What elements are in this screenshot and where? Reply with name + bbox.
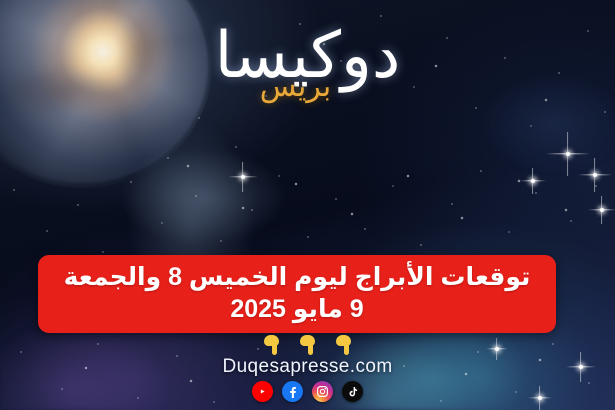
youtube-icon[interactable] [252,381,273,402]
point-down-icon [336,335,351,355]
point-down-icon [300,335,315,355]
tiktok-icon[interactable] [342,381,363,402]
social-links-row [0,381,615,402]
headline-banner: توقعات الأبراج ليوم الخميس 8 والجمعة 9 م… [38,255,556,333]
point-down-icon [264,335,279,355]
headline-line-1: توقعات الأبراج ليوم الخميس 8 والجمعة [54,261,540,293]
headline-line-2: 9 مايو 2025 [54,293,540,325]
footer: Duqesapresse.com [0,334,615,402]
instagram-icon[interactable] [312,381,333,402]
facebook-icon[interactable] [282,381,303,402]
poster-canvas: دوكيسا بريس توقعات الأبراج ليوم الخميس 8… [0,0,615,410]
pointing-down-emoji-row [0,334,615,355]
site-name: Duqesapresse.com [0,356,615,378]
